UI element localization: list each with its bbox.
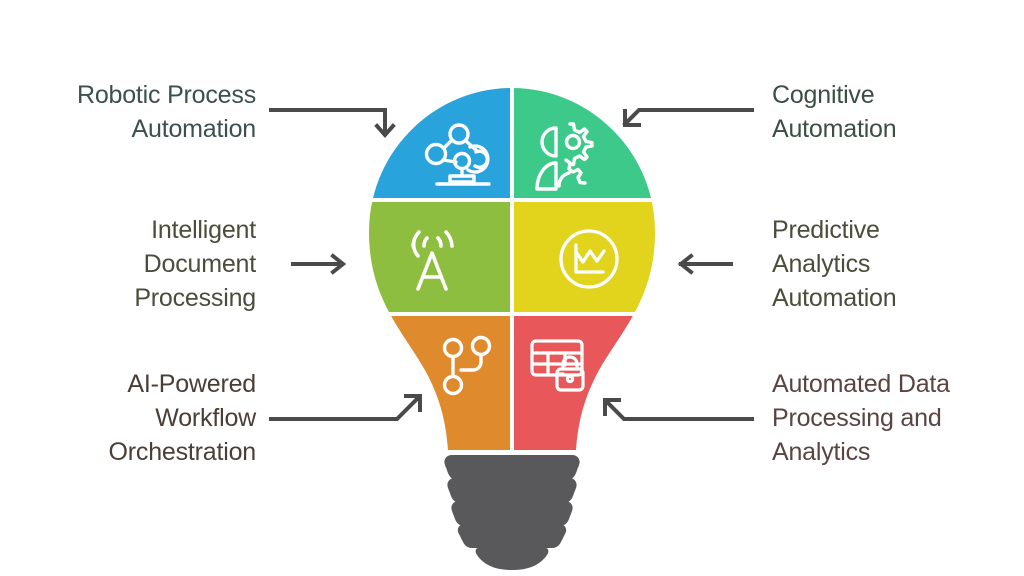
arrow-workflow [271, 396, 420, 419]
label-robotic-process-automation[interactable]: Robotic Process Automation [0, 78, 256, 146]
label-cognitive-automation[interactable]: Cognitive Automation [772, 78, 1024, 146]
arrow-idp [293, 256, 343, 272]
bulb-screw-base [444, 455, 579, 570]
arrow-rpa [271, 110, 393, 135]
label-ai-powered-workflow-orchestration[interactable]: AI-Powered Workflow Orchestration [0, 367, 256, 469]
infographic-canvas: Robotic Process Automation Intelligent D… [0, 0, 1024, 576]
arrow-predictive [681, 256, 731, 272]
segment-data[interactable] [514, 316, 699, 461]
label-intelligent-document-processing[interactable]: Intelligent Document Processing [0, 213, 256, 315]
label-automated-data-processing-and-analytics[interactable]: Automated Data Processing and Analytics [772, 367, 1024, 469]
arrow-cognitive [625, 110, 752, 125]
arrow-data [605, 400, 752, 419]
segment-rpa[interactable] [330, 80, 510, 198]
label-predictive-analytics-automation[interactable]: Predictive Analytics Automation [772, 213, 1024, 315]
segment-idp[interactable] [330, 202, 510, 312]
segment-predictive[interactable] [514, 202, 699, 312]
